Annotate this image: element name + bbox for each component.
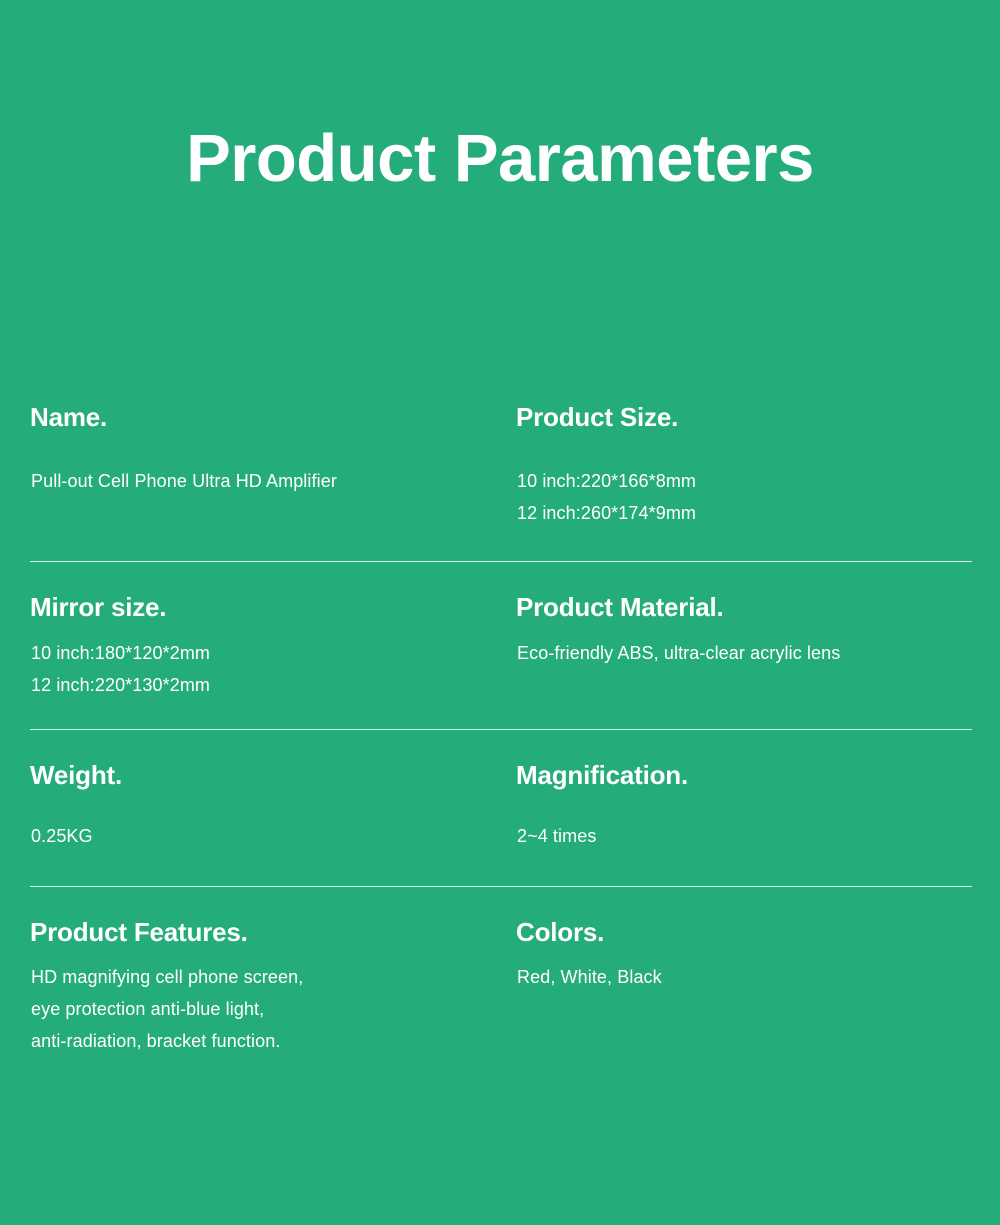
spec-value-line: Eco-friendly ABS, ultra-clear acrylic le…	[517, 637, 972, 669]
spec-label-mirror-size: Mirror size.	[30, 592, 502, 623]
spec-label-magnification: Magnification.	[516, 760, 972, 791]
spec-cell-weight: Weight. 0.25KG	[30, 760, 516, 851]
spec-value-magnification: 2~4 times	[516, 820, 972, 852]
spec-value-name: Pull-out Cell Phone Ultra HD Amplifier	[30, 465, 502, 497]
spec-row: Name. Pull-out Cell Phone Ultra HD Ampli…	[30, 402, 972, 561]
spec-label-product-material: Product Material.	[516, 592, 972, 623]
spec-row: Mirror size. 10 inch:180*120*2mm 12 inch…	[30, 561, 972, 729]
spec-label-product-features: Product Features.	[30, 917, 502, 948]
spec-value-mirror-size: 10 inch:180*120*2mm 12 inch:220*130*2mm	[30, 637, 502, 701]
spec-value-line: 0.25KG	[31, 820, 502, 852]
spec-cell-name: Name. Pull-out Cell Phone Ultra HD Ampli…	[30, 402, 516, 497]
spec-value-line: HD magnifying cell phone screen,	[31, 961, 502, 993]
spec-value-line: 10 inch:180*120*2mm	[31, 637, 502, 669]
spec-cell-product-material: Product Material. Eco-friendly ABS, ultr…	[516, 592, 972, 669]
specification-table: Name. Pull-out Cell Phone Ultra HD Ampli…	[30, 402, 972, 1057]
spec-row: Weight. 0.25KG Magnification. 2~4 times	[30, 729, 972, 885]
spec-value-product-size: 10 inch:220*166*8mm 12 inch:260*174*9mm	[516, 465, 972, 529]
spec-value-line: anti-radiation, bracket function.	[31, 1025, 502, 1057]
spec-value-weight: 0.25KG	[30, 820, 502, 852]
spec-value-line: 12 inch:260*174*9mm	[517, 497, 972, 529]
spec-value-colors: Red, White, Black	[516, 961, 972, 993]
spec-value-product-material: Eco-friendly ABS, ultra-clear acrylic le…	[516, 637, 972, 669]
spec-label-weight: Weight.	[30, 760, 502, 791]
page-title: Product Parameters	[0, 124, 1000, 194]
spec-value-line: 12 inch:220*130*2mm	[31, 669, 502, 701]
spec-cell-colors: Colors. Red, White, Black	[516, 917, 972, 993]
spec-cell-product-features: Product Features. HD magnifying cell pho…	[30, 917, 516, 1057]
spec-label-name: Name.	[30, 402, 502, 433]
product-parameters-page: Product Parameters Name. Pull-out Cell P…	[0, 0, 1000, 1225]
spec-value-line: 10 inch:220*166*8mm	[517, 465, 972, 497]
spec-cell-magnification: Magnification. 2~4 times	[516, 760, 972, 851]
page-title-container: Product Parameters	[0, 124, 1000, 194]
spec-cell-product-size: Product Size. 10 inch:220*166*8mm 12 inc…	[516, 402, 972, 529]
spec-row: Product Features. HD magnifying cell pho…	[30, 886, 972, 1057]
spec-value-line: 2~4 times	[517, 820, 972, 852]
spec-value-product-features: HD magnifying cell phone screen, eye pro…	[30, 961, 502, 1057]
spec-cell-mirror-size: Mirror size. 10 inch:180*120*2mm 12 inch…	[30, 592, 516, 701]
spec-value-line: Pull-out Cell Phone Ultra HD Amplifier	[31, 465, 502, 497]
spec-label-colors: Colors.	[516, 917, 972, 948]
spec-value-line: eye protection anti-blue light,	[31, 993, 502, 1025]
spec-value-line: Red, White, Black	[517, 961, 972, 993]
spec-label-product-size: Product Size.	[516, 402, 972, 433]
